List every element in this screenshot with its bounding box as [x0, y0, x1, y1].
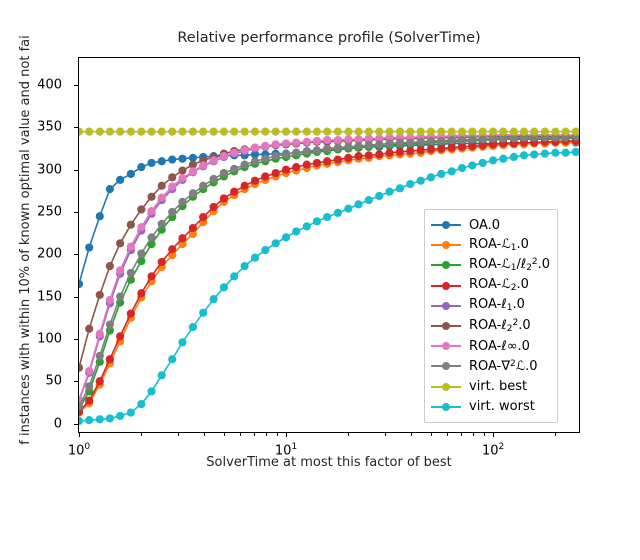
series-marker [116, 412, 124, 420]
legend-label: ROA-ℓ22.0 [469, 319, 531, 334]
series-marker [147, 272, 155, 280]
series-marker [116, 176, 124, 184]
legend-swatch-icon [431, 280, 461, 292]
series-marker [344, 154, 352, 162]
series-marker [158, 258, 166, 266]
series-marker [79, 280, 83, 288]
legend-item-3[interactable]: ROA-ℒ2.0 [431, 276, 550, 296]
legend-label: ROA-ℒ1/ℓ22.0 [469, 258, 550, 273]
series-marker [375, 128, 383, 136]
series-marker [468, 161, 476, 169]
series-marker [189, 323, 197, 331]
series-marker [137, 249, 145, 257]
series-marker [127, 269, 135, 277]
series-marker [510, 128, 518, 136]
series-marker [479, 128, 487, 136]
series-marker [520, 151, 528, 159]
series-marker [116, 332, 124, 340]
legend-label: ROA-∇2ℒ.0 [469, 360, 538, 373]
series-marker [261, 155, 269, 163]
series-marker [79, 417, 83, 425]
series-marker [178, 128, 186, 136]
series-marker [313, 128, 321, 136]
series-marker [137, 163, 145, 171]
series-marker [210, 203, 218, 211]
series-marker [106, 262, 114, 270]
series-marker [220, 152, 228, 160]
series-marker [116, 293, 124, 301]
series-marker [448, 136, 456, 144]
chart-title: Relative performance profile (SolverTime… [78, 30, 580, 46]
series-marker [158, 194, 166, 202]
series-marker [199, 213, 207, 221]
legend-swatch-icon [431, 300, 461, 312]
series-marker [396, 128, 404, 136]
legend-label: virt. worst [469, 400, 535, 413]
series-marker [437, 170, 445, 178]
series-marker [365, 196, 373, 204]
chart-figure: Relative performance profile (SolverTime… [0, 0, 640, 480]
series-marker [137, 128, 145, 136]
legend-item-2[interactable]: ROA-ℒ1/ℓ22.0 [431, 255, 550, 275]
series-marker [241, 161, 249, 169]
series-marker [479, 159, 487, 167]
legend-label: ROA-ℓ∞.0 [469, 340, 530, 353]
series-marker [448, 144, 456, 152]
series-marker [313, 146, 321, 154]
series-marker [354, 200, 362, 208]
series-marker [96, 352, 104, 360]
legend-label: ROA-ℒ1.0 [469, 238, 529, 253]
legend-swatch-icon [431, 340, 461, 352]
legend-swatch-icon [431, 219, 461, 231]
series-marker [199, 128, 207, 136]
series-marker [178, 198, 186, 206]
series-marker [261, 246, 269, 254]
legend-item-1[interactable]: ROA-ℒ1.0 [431, 235, 550, 255]
series-marker [261, 172, 269, 180]
series-marker [406, 180, 414, 188]
series-marker [437, 137, 445, 145]
series-marker [147, 193, 155, 201]
series-marker [396, 148, 404, 156]
series-marker [199, 309, 207, 317]
series-marker [178, 234, 186, 242]
series-marker [127, 408, 135, 416]
series-marker [96, 330, 104, 338]
series-marker [282, 166, 290, 174]
series-marker [241, 262, 249, 270]
series-marker [106, 128, 114, 136]
y-axis-tick-marks [0, 57, 78, 433]
series-marker [199, 182, 207, 190]
series-marker [272, 140, 280, 148]
series-marker [158, 220, 166, 228]
series-marker [79, 364, 83, 372]
series-marker [551, 149, 559, 157]
series-marker [147, 387, 155, 395]
series-marker [96, 415, 104, 423]
series-marker [530, 150, 538, 158]
series-marker [220, 194, 228, 202]
series-marker [417, 146, 425, 154]
series-marker [147, 159, 155, 167]
series-marker [499, 155, 507, 163]
series-marker [458, 164, 466, 172]
series-marker [230, 149, 238, 157]
series-marker [168, 208, 176, 216]
series-marker [272, 128, 280, 136]
series-marker [178, 155, 186, 163]
series-marker [323, 128, 331, 136]
series-marker [272, 169, 280, 177]
series-marker [468, 135, 476, 143]
x-axis-label: SolverTime at most this factor of best [78, 455, 580, 470]
series-marker [323, 157, 331, 165]
series-marker [96, 291, 104, 299]
series-marker [375, 192, 383, 200]
series-marker [168, 183, 176, 191]
series-marker [220, 128, 228, 136]
series-marker [158, 371, 166, 379]
series-marker [178, 174, 186, 182]
series-marker [489, 128, 497, 136]
series-marker [313, 137, 321, 145]
series-marker [427, 145, 435, 153]
series-marker [448, 128, 456, 136]
series-marker [489, 156, 497, 164]
series-marker [106, 355, 114, 363]
series-marker [85, 367, 93, 375]
series-marker [562, 149, 570, 157]
series-marker [210, 156, 218, 164]
legend-swatch-icon [431, 401, 461, 413]
series-8 [79, 128, 579, 136]
series-marker [85, 382, 93, 390]
series-marker [251, 144, 259, 152]
series-marker [334, 155, 342, 163]
series-marker [241, 128, 249, 136]
series-marker [427, 128, 435, 136]
series-marker [354, 128, 362, 136]
series-marker [323, 213, 331, 221]
series-marker [272, 239, 280, 247]
series-marker [85, 416, 93, 424]
series-marker [334, 128, 342, 136]
series-marker [168, 245, 176, 253]
series-marker [220, 169, 228, 177]
series-marker [106, 414, 114, 422]
series-marker [106, 320, 114, 328]
series-marker [354, 152, 362, 160]
series-marker [344, 143, 352, 151]
series-marker [551, 128, 559, 136]
series-marker [127, 221, 135, 229]
series-marker [282, 139, 290, 147]
series-marker [241, 146, 249, 154]
series-marker [189, 128, 197, 136]
series-marker [479, 135, 487, 143]
series-marker [210, 128, 218, 136]
series-marker [406, 147, 414, 155]
series-marker [127, 243, 135, 251]
series-marker [85, 243, 93, 251]
series-marker [334, 144, 342, 152]
series-marker [116, 239, 124, 247]
series-marker [499, 128, 507, 136]
series-marker [541, 150, 549, 158]
legend-label: ROA-ℒ2.0 [469, 278, 529, 293]
legend-swatch-icon [431, 381, 461, 393]
legend-label: virt. best [469, 380, 527, 393]
series-marker [178, 338, 186, 346]
series-marker [541, 128, 549, 136]
legend-item-0[interactable]: OA.0 [431, 215, 550, 235]
series-marker [116, 128, 124, 136]
series-marker [85, 128, 93, 136]
series-marker [417, 177, 425, 185]
series-marker [406, 128, 414, 136]
series-marker [520, 128, 528, 136]
series-marker [313, 217, 321, 225]
series-marker [251, 128, 259, 136]
series-marker [292, 227, 300, 235]
series-marker [189, 167, 197, 175]
series-marker [303, 222, 311, 230]
series-marker [427, 137, 435, 145]
legend-swatch-icon [431, 259, 461, 271]
series-marker [530, 128, 538, 136]
legend-item-9[interactable]: virt. worst [431, 397, 550, 417]
series-marker [261, 142, 269, 150]
series-marker [406, 139, 414, 147]
series-marker [468, 128, 476, 136]
series-marker [158, 157, 166, 165]
series-marker [127, 170, 135, 178]
series-marker [127, 309, 135, 317]
series-marker [210, 175, 218, 183]
series-marker [251, 254, 259, 262]
series-marker [137, 223, 145, 231]
series-marker [437, 128, 445, 136]
series-marker [147, 207, 155, 215]
series-marker [251, 157, 259, 165]
series-marker [437, 144, 445, 152]
series-marker [79, 128, 83, 136]
series-marker [168, 128, 176, 136]
series-marker [375, 140, 383, 148]
series-marker [303, 138, 311, 146]
series-marker [106, 185, 114, 193]
series-marker [220, 283, 228, 291]
series-marker [396, 184, 404, 192]
series-marker [147, 128, 155, 136]
series-marker [385, 128, 393, 136]
series-marker [158, 182, 166, 190]
series-marker [303, 161, 311, 169]
series-marker [96, 377, 104, 385]
series-marker [292, 139, 300, 147]
series-marker [137, 289, 145, 297]
series-marker [96, 212, 104, 220]
legend-item-7[interactable]: ROA-∇2ℒ.0 [431, 356, 550, 376]
legend-item-6[interactable]: ROA-ℓ∞.0 [431, 336, 550, 356]
series-marker [303, 147, 311, 155]
series-marker [385, 139, 393, 147]
series-marker [303, 128, 311, 136]
chart-legend[interactable]: OA.0ROA-ℒ1.0ROA-ℒ1/ℓ22.0ROA-ℒ2.0ROA-ℓ1.0… [424, 209, 558, 423]
series-marker [365, 151, 373, 159]
series-marker [251, 177, 259, 185]
series-marker [147, 233, 155, 241]
series-marker [85, 397, 93, 405]
series-marker [344, 135, 352, 143]
legend-label: ROA-ℓ1.0 [469, 298, 525, 313]
series-marker [458, 136, 466, 144]
series-marker [292, 149, 300, 157]
series-marker [210, 295, 218, 303]
series-marker [230, 188, 238, 196]
series-marker [168, 355, 176, 363]
series-marker [292, 163, 300, 171]
series-marker [282, 233, 290, 241]
series-marker [106, 296, 114, 304]
legend-item-4[interactable]: ROA-ℓ1.0 [431, 296, 550, 316]
series-marker [241, 182, 249, 190]
series-marker [168, 173, 176, 181]
legend-item-5[interactable]: ROA-ℓ22.0 [431, 316, 550, 336]
series-marker [85, 325, 93, 333]
series-marker [396, 139, 404, 147]
series-marker [323, 144, 331, 152]
series-marker [313, 159, 321, 167]
series-marker [127, 128, 135, 136]
series-marker [282, 128, 290, 136]
series-marker [96, 128, 104, 136]
series-marker [365, 128, 373, 136]
series-marker [562, 128, 570, 136]
series-marker [417, 138, 425, 146]
series-marker [385, 149, 393, 157]
series-marker [344, 205, 352, 213]
series-marker [292, 128, 300, 136]
series-marker [199, 161, 207, 169]
series-marker [158, 128, 166, 136]
series-marker [417, 128, 425, 136]
series-marker [427, 173, 435, 181]
series-marker [137, 205, 145, 213]
series-marker [572, 148, 579, 156]
series-marker [344, 128, 352, 136]
series-marker [375, 150, 383, 158]
series-marker [385, 188, 393, 196]
series-marker [272, 152, 280, 160]
series-marker [448, 167, 456, 175]
series-marker [189, 224, 197, 232]
series-marker [230, 165, 238, 173]
series-marker [178, 166, 186, 174]
legend-label: OA.0 [469, 219, 500, 232]
series-marker [510, 153, 518, 161]
legend-item-8[interactable]: virt. best [431, 377, 550, 397]
series-marker [189, 189, 197, 197]
series-marker [230, 272, 238, 280]
series-marker [354, 142, 362, 150]
series-marker [230, 128, 238, 136]
series-marker [334, 209, 342, 217]
series-marker [116, 266, 124, 274]
series-marker [261, 128, 269, 136]
series-marker [168, 155, 176, 163]
series-marker [458, 128, 466, 136]
legend-swatch-icon [431, 320, 461, 332]
series-marker [282, 150, 290, 158]
series-marker [137, 400, 145, 408]
legend-swatch-icon [431, 360, 461, 372]
series-marker [323, 136, 331, 144]
series-marker [365, 141, 373, 149]
legend-swatch-icon [431, 239, 461, 251]
series-marker [334, 136, 342, 144]
